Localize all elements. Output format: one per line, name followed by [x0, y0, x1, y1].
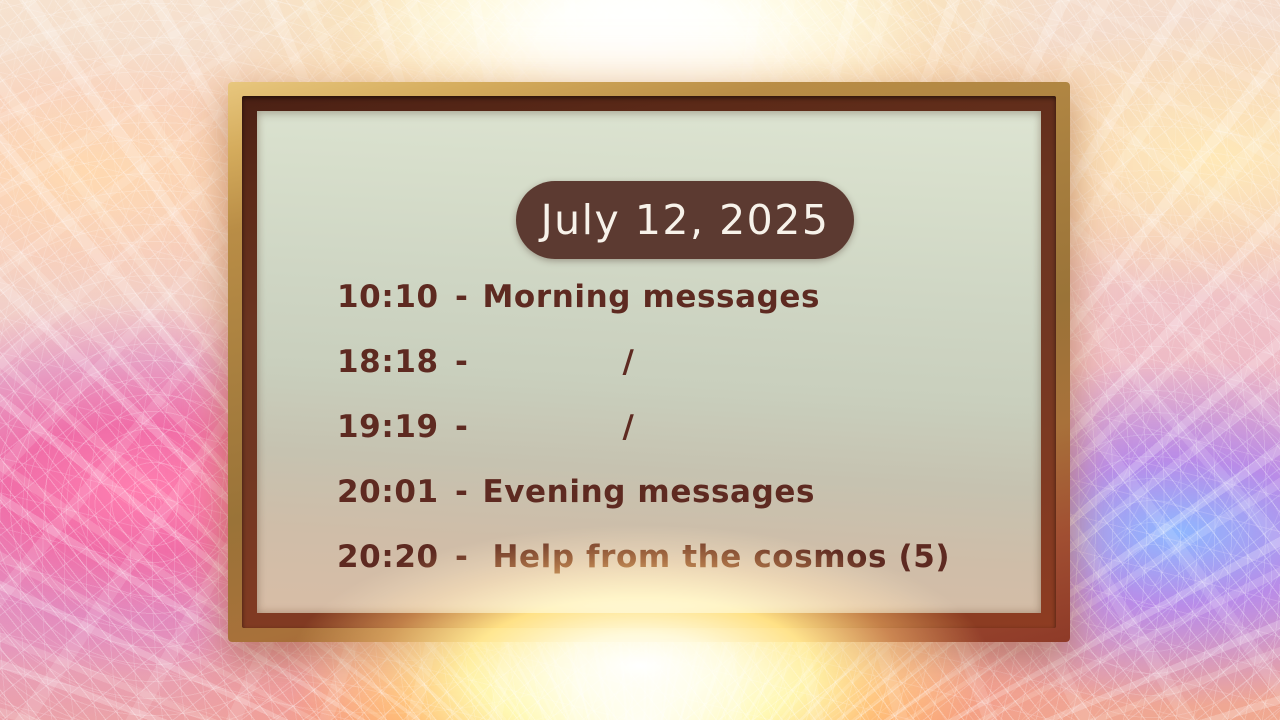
picture-frame: July 12, 2025 10:10 - Morning messages 1…	[228, 82, 1070, 642]
schedule-row: 20:01 - Evening messages	[337, 474, 1017, 539]
schedule-dash: -	[449, 409, 482, 445]
schedule-row: 18:18 - /	[337, 344, 1017, 409]
schedule-list: 10:10 - Morning messages 18:18 - / 19:19…	[337, 279, 1017, 604]
schedule-label: /	[482, 409, 1017, 445]
schedule-label: Evening messages	[482, 474, 1017, 510]
schedule-label: /	[482, 344, 1017, 380]
schedule-dash: -	[449, 279, 482, 315]
schedule-time: 20:01	[337, 474, 449, 510]
schedule-row: 20:20 - Help from the cosmos (5)	[337, 539, 1017, 604]
schedule-time: 10:10	[337, 279, 449, 315]
schedule-row: 10:10 - Morning messages	[337, 279, 1017, 344]
screenshot-root: July 12, 2025 10:10 - Morning messages 1…	[0, 0, 1280, 720]
schedule-time: 20:20	[337, 539, 449, 575]
schedule-label: Help from the cosmos (5)	[482, 539, 1017, 575]
schedule-dash: -	[449, 474, 482, 510]
schedule-time: 19:19	[337, 409, 449, 445]
schedule-label: Morning messages	[482, 279, 1017, 315]
frame-inner-bevel: July 12, 2025 10:10 - Morning messages 1…	[242, 96, 1056, 628]
schedule-dash: -	[449, 539, 482, 575]
date-title-text: July 12, 2025	[541, 196, 830, 244]
schedule-time: 18:18	[337, 344, 449, 380]
board-surface: July 12, 2025 10:10 - Morning messages 1…	[257, 111, 1041, 613]
date-title-badge: July 12, 2025	[516, 181, 854, 259]
schedule-row: 19:19 - /	[337, 409, 1017, 474]
schedule-dash: -	[449, 344, 482, 380]
